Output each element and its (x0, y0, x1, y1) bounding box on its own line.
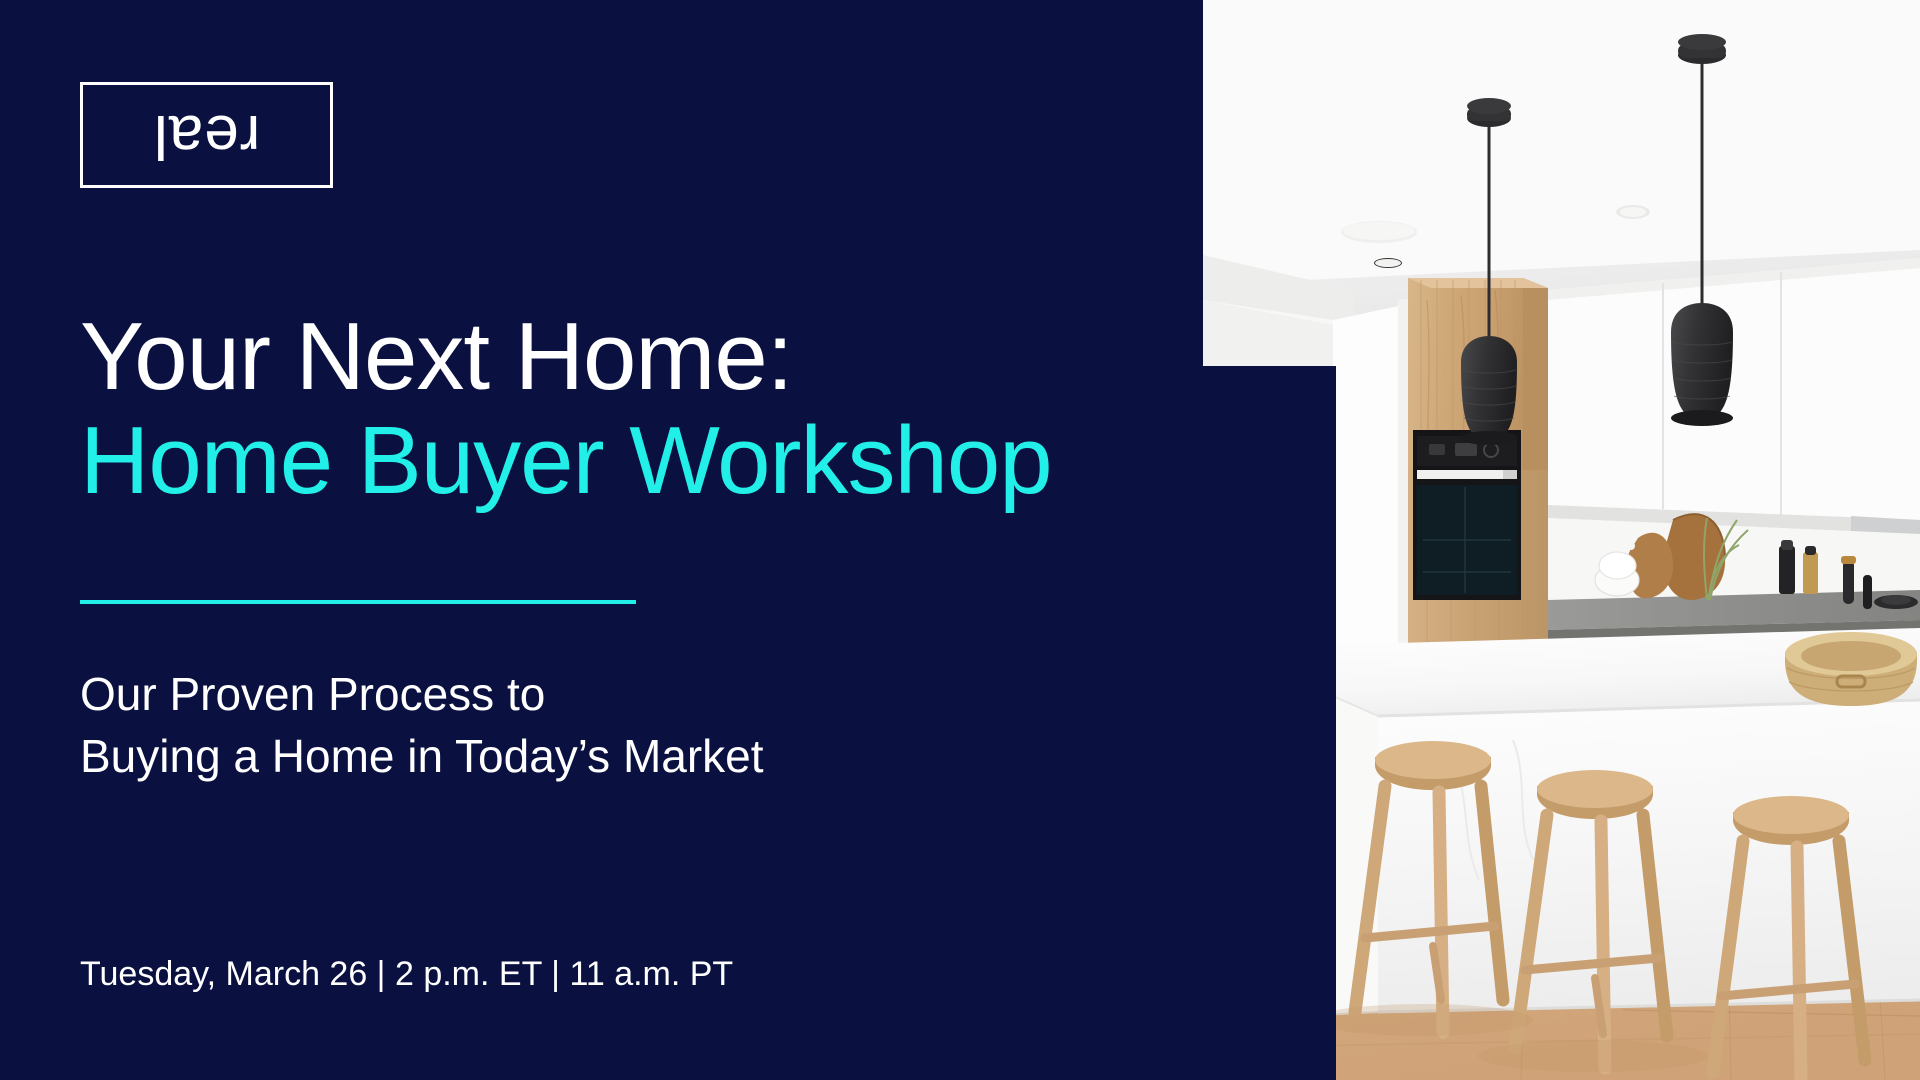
subtitle-block: Our Proven Process to Buying a Home in T… (80, 663, 1080, 787)
cyan-divider-rule (80, 600, 636, 604)
headline-line-2: Home Buyer Workshop (80, 409, 1260, 513)
subtitle-line-1: Our Proven Process to (80, 663, 1080, 725)
real-logo: real (80, 82, 333, 188)
presentation-slide: real Your Next Home: Home Buyer Workshop… (0, 0, 1920, 1080)
headline-block: Your Next Home: Home Buyer Workshop (80, 305, 1260, 512)
event-datetime: Tuesday, March 26 | 2 p.m. ET | 11 a.m. … (80, 955, 733, 994)
real-wordmark-text: real (153, 103, 260, 167)
subtitle-line-2: Buying a Home in Today’s Market (80, 725, 1080, 787)
slide-content: real Your Next Home: Home Buyer Workshop… (0, 0, 1336, 1080)
headline-line-1: Your Next Home: (80, 305, 1260, 409)
